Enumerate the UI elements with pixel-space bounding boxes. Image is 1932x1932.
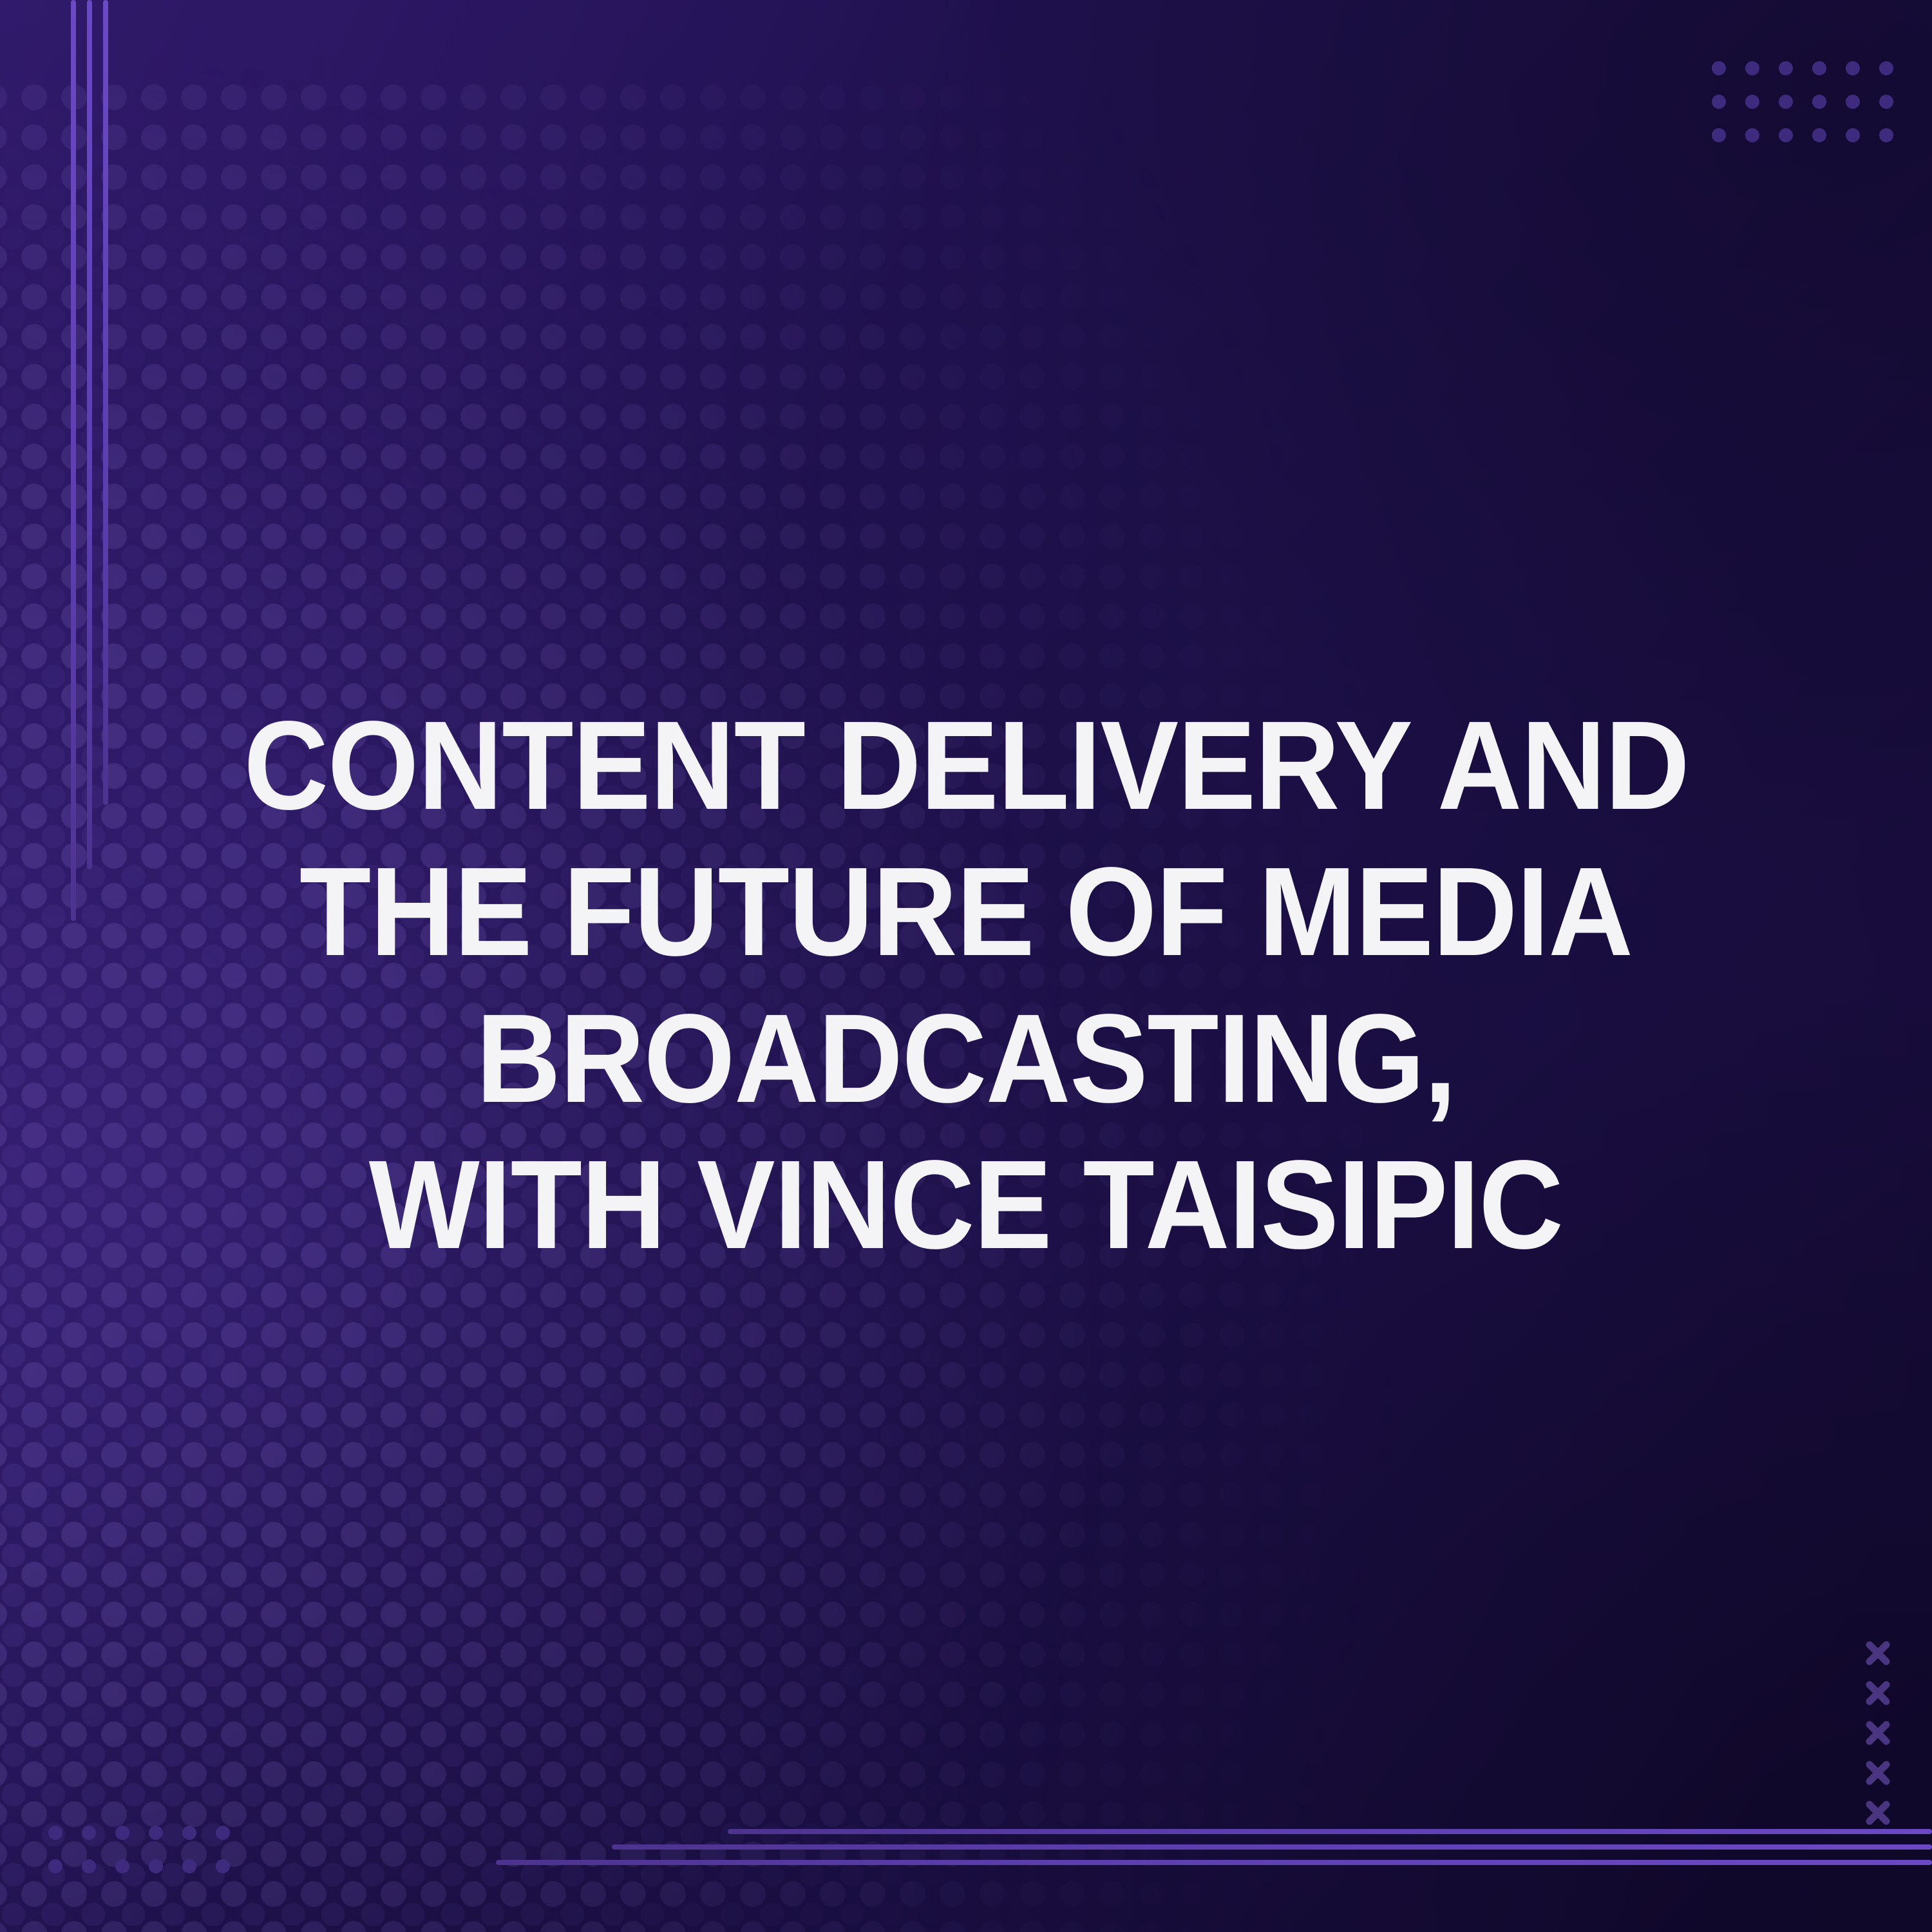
grid-dot (1712, 95, 1726, 109)
x-icon (1864, 1799, 1892, 1827)
grid-dot (115, 1826, 129, 1840)
grid-dot (1812, 61, 1826, 75)
grid-dot (182, 1859, 196, 1873)
grid-dot (1745, 61, 1759, 75)
vertical-accent-line-3 (103, 0, 108, 805)
grid-dot (1712, 61, 1726, 75)
grid-dot (1846, 61, 1860, 75)
grid-dot (1779, 61, 1793, 75)
grid-dot (1779, 128, 1793, 142)
x-icon (1864, 1639, 1892, 1667)
grid-dot (1712, 128, 1726, 142)
horizontal-accent-line-3 (496, 1860, 1932, 1865)
grid-dot (1879, 61, 1893, 75)
grid-dot (149, 1826, 163, 1840)
grid-dot (48, 1826, 62, 1840)
grid-dot (149, 1859, 163, 1873)
grid-dot (216, 1826, 230, 1840)
dot-grid-top-right (1712, 61, 1893, 142)
x-icon (1864, 1679, 1892, 1707)
dot-grid-bottom-left (48, 1826, 230, 1873)
x-icon (1864, 1719, 1892, 1747)
x-icon (1864, 1759, 1892, 1787)
grid-dot (1879, 128, 1893, 142)
grid-dot (1812, 128, 1826, 142)
grid-dot (1879, 95, 1893, 109)
grid-dot (1846, 128, 1860, 142)
grid-dot (1812, 95, 1826, 109)
grid-dot (1846, 95, 1860, 109)
grid-dot (182, 1826, 196, 1840)
grid-dot (82, 1859, 96, 1873)
horizontal-accent-line-2 (612, 1844, 1932, 1850)
grid-dot (216, 1859, 230, 1873)
grid-dot (115, 1859, 129, 1873)
grid-dot (1745, 95, 1759, 109)
x-mark-column (1864, 1639, 1892, 1827)
grid-dot (1745, 128, 1759, 142)
background-vignette (0, 0, 1932, 1932)
grid-dot (82, 1826, 96, 1840)
grid-dot (48, 1859, 62, 1873)
vertical-accent-line-2 (87, 0, 92, 869)
vertical-accent-line-1 (71, 0, 76, 921)
podcast-title-card: CONTENT DELIVERY AND THE FUTURE OF MEDIA… (0, 0, 1932, 1932)
horizontal-accent-line-1 (728, 1829, 1932, 1834)
grid-dot (1779, 95, 1793, 109)
